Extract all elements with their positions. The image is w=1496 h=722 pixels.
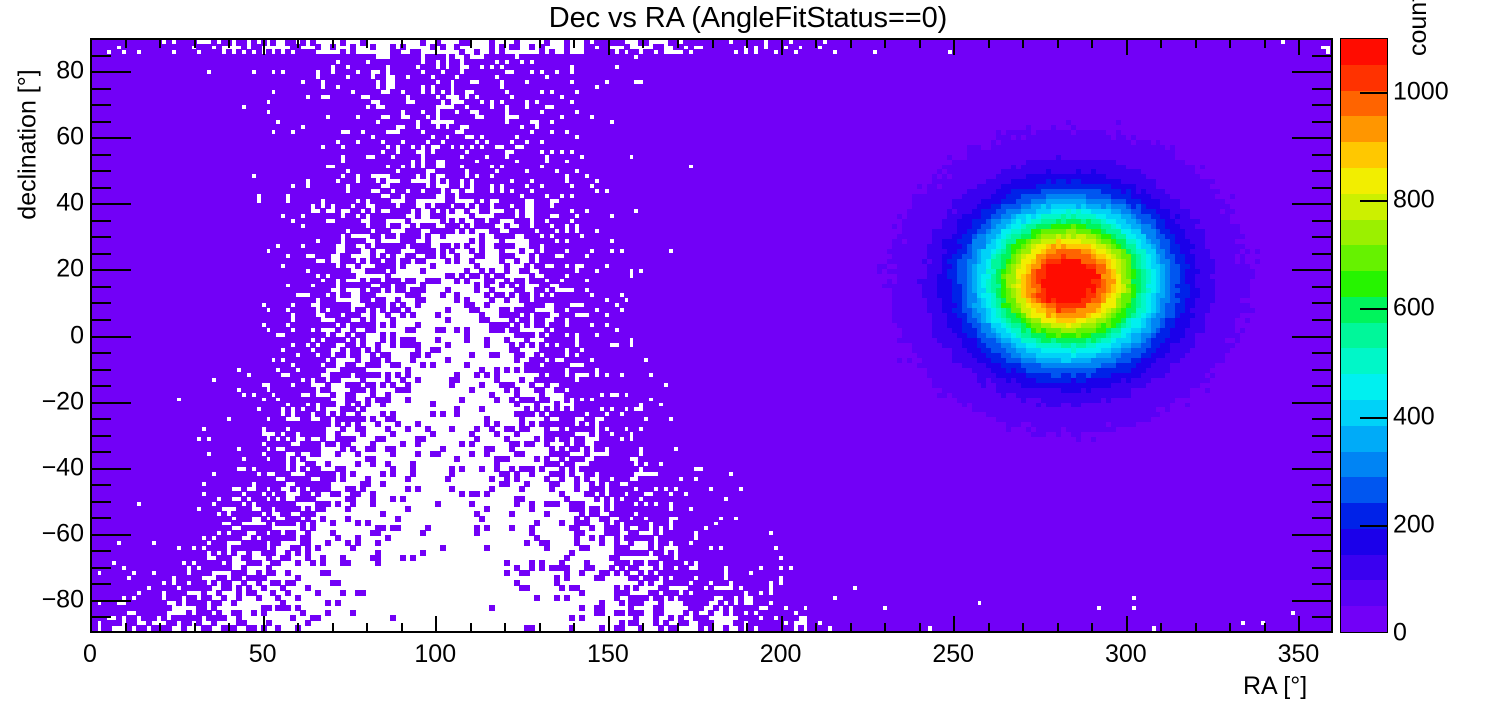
y-tick-label: 0: [70, 321, 84, 350]
colorbar-band: [1341, 555, 1387, 581]
colorbar-tick-label: 400: [1393, 403, 1435, 432]
x-tick-label: 350: [1278, 640, 1320, 669]
colorbar-tick-label: 1000: [1393, 78, 1449, 107]
colorbar-band: [1341, 580, 1387, 606]
colorbar: [1340, 38, 1388, 633]
x-tick-label: 250: [932, 640, 974, 669]
colorbar-band: [1341, 348, 1387, 374]
colorbar-tick-label: 600: [1393, 294, 1435, 323]
y-tick-label: −40: [42, 453, 84, 482]
colorbar-band: [1341, 271, 1387, 297]
colorbar-band: [1341, 91, 1387, 117]
x-tick-label: 200: [760, 640, 802, 669]
colorbar-title: count: [1404, 0, 1433, 56]
colorbar-band: [1341, 39, 1387, 65]
y-axis-title: declination [°]: [14, 55, 43, 235]
x-tick-label: 150: [587, 640, 629, 669]
x-tick-label: 0: [83, 640, 97, 669]
x-axis-title: RA [°]: [1243, 672, 1307, 701]
colorbar-band: [1341, 426, 1387, 452]
colorbar-band: [1341, 529, 1387, 555]
plot-canvas: Dec vs RA (AngleFitStatus==0) 0501001502…: [0, 0, 1496, 722]
colorbar-tick-label: 0: [1393, 619, 1407, 648]
colorbar-tick-label: 800: [1393, 186, 1435, 215]
colorbar-band: [1341, 65, 1387, 91]
y-tick-label: 20: [56, 255, 84, 284]
colorbar-band: [1341, 400, 1387, 426]
colorbar-band: [1341, 168, 1387, 194]
colorbar-band: [1341, 220, 1387, 246]
plot-frame: [90, 38, 1333, 633]
colorbar-band: [1341, 374, 1387, 400]
page-title: Dec vs RA (AngleFitStatus==0): [0, 2, 1496, 35]
colorbar-band: [1341, 245, 1387, 271]
colorbar-band: [1341, 452, 1387, 478]
x-tick-label: 300: [1105, 640, 1147, 669]
colorbar-band: [1341, 297, 1387, 323]
y-tick-label: 60: [56, 123, 84, 152]
colorbar-band: [1341, 323, 1387, 349]
colorbar-tick-label: 200: [1393, 511, 1435, 540]
x-tick-label: 50: [249, 640, 277, 669]
y-tick-label: 40: [56, 189, 84, 218]
colorbar-band: [1341, 194, 1387, 220]
y-tick-label: −80: [42, 585, 84, 614]
y-tick-label: −60: [42, 519, 84, 548]
colorbar-band: [1341, 503, 1387, 529]
colorbar-band: [1341, 606, 1387, 632]
colorbar-band: [1341, 477, 1387, 503]
histogram-canvas: [92, 40, 1333, 633]
colorbar-band: [1341, 116, 1387, 142]
x-tick-label: 100: [414, 640, 456, 669]
colorbar-band: [1341, 142, 1387, 168]
y-tick-label: −20: [42, 387, 84, 416]
y-tick-label: 80: [56, 57, 84, 86]
